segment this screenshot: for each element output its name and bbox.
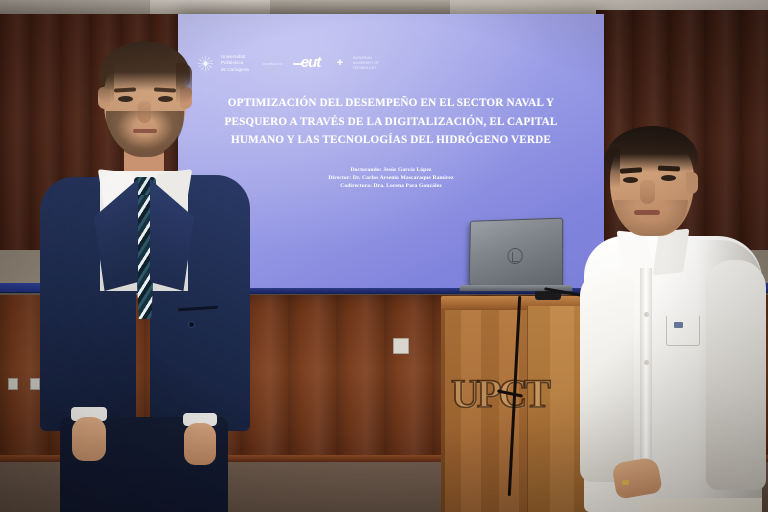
- ring: [622, 480, 629, 485]
- shirt-placket: [640, 268, 652, 488]
- arm-left: [580, 270, 634, 482]
- logo-separator-text: MEMBER OF: [263, 62, 283, 66]
- slide-title-line-1: OPTIMIZACIÓN DEL DESEMPEÑO EN EL SECTOR …: [204, 94, 578, 113]
- jacket-button: [188, 321, 195, 328]
- slide-title: OPTIMIZACIÓN DEL DESEMPEÑO EN EL SECTOR …: [204, 94, 578, 150]
- eye-left: [623, 177, 638, 183]
- eut-logo-icon: eut +: [293, 56, 349, 71]
- trousers: [638, 498, 762, 512]
- mouth: [133, 129, 157, 133]
- nose: [138, 101, 151, 123]
- shirt-button-2: [644, 360, 649, 365]
- podium-edge: [441, 310, 445, 512]
- slide-credit-codirectora: Codirectora: Dra. Lorena Para González: [204, 182, 578, 190]
- eut-logo-group: eut + EUROPEAN UNIVERSITY OF TECHNOLOGY: [293, 56, 379, 71]
- hair-side: [604, 148, 620, 188]
- slide-credit-doctorando: Doctorando: Jesús García López: [204, 166, 578, 174]
- eut-wordmark: eut: [301, 54, 321, 72]
- eut-tagline: EUROPEAN UNIVERSITY OF TECHNOLOGY: [353, 56, 379, 70]
- slide-title-line-3: HUMANO Y LAS TECNOLOGÍAS DEL HIDRÓGENO V…: [204, 131, 578, 150]
- wall-outlet-left: [8, 378, 18, 390]
- arm-right: [706, 260, 766, 490]
- slide-credit-director: Director: Dr. Carlos Arsenio Mascaraque …: [204, 174, 578, 182]
- photo-scene: Universidad Politécnica de Cartagena MEM…: [0, 0, 768, 512]
- laptop: [466, 219, 576, 301]
- hair-side-left: [98, 63, 114, 103]
- podium-upct-lettering: UPCT: [451, 374, 548, 414]
- person-in-navy-suit: [38, 25, 252, 512]
- hand-right: [184, 423, 216, 465]
- eye-right: [661, 175, 676, 181]
- hair-side-right: [176, 63, 192, 103]
- eye-left: [118, 96, 133, 102]
- ear: [686, 172, 698, 194]
- shirt-pocket: [666, 316, 700, 346]
- laptop-lid: [469, 218, 564, 289]
- eut-tag-line-3: TECHNOLOGY: [353, 66, 379, 71]
- hp-logo-icon: [507, 248, 522, 264]
- shirt-button-1: [644, 312, 649, 317]
- mouth: [634, 210, 660, 215]
- wall-switch-plate: [393, 338, 409, 354]
- nose: [640, 180, 655, 204]
- shirt-pocket-emblem: [674, 322, 683, 328]
- hand-left: [72, 417, 106, 461]
- eut-plus-mark: +: [337, 58, 343, 69]
- slide-title-line-2: PESQUERO A TRAVÉS DE LA DIGITALIZACIÓN, …: [204, 113, 578, 132]
- slide-credits: Doctorando: Jesús García López Director:…: [204, 166, 578, 191]
- eye-right: [158, 96, 173, 102]
- person-in-white-shirt: [578, 120, 768, 512]
- eyebrow-right: [658, 166, 680, 172]
